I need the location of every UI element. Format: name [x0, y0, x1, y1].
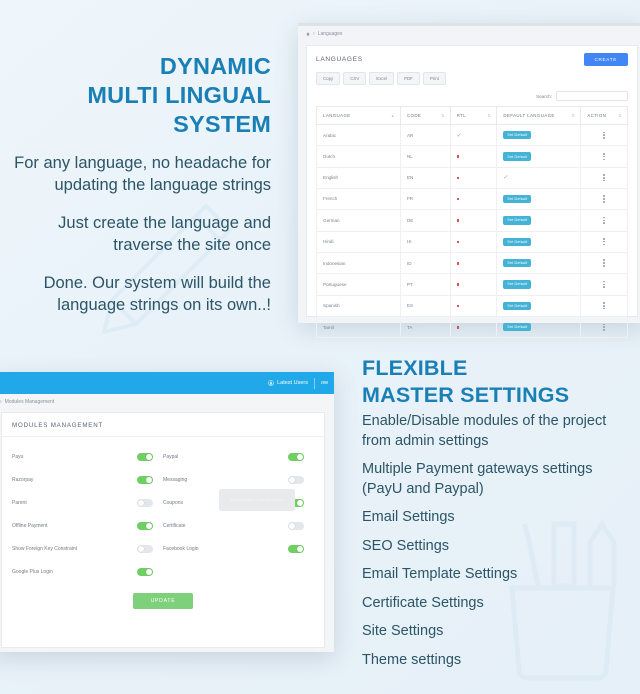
breadcrumb: › Languages	[298, 26, 640, 42]
module-toggle[interactable]	[137, 522, 153, 530]
cell-default-language: Set Default	[497, 146, 581, 167]
cell-default-language: Set Default	[497, 317, 581, 338]
set-default-badge[interactable]: Set Default	[503, 216, 531, 224]
promo-top-body: For any language, no headache for updati…	[0, 152, 271, 316]
cell-language[interactable]: English	[317, 167, 401, 188]
languages-panel: LANGUAGES CREATE Copy CSV Excel PDF Prin…	[306, 45, 638, 317]
export-pdf-button[interactable]: PDF	[397, 72, 420, 85]
module-cell: Certificate	[163, 522, 314, 530]
update-button[interactable]: UPDATE	[133, 593, 194, 609]
cell-language[interactable]: Dutch	[317, 146, 401, 167]
list-item: Email Template Settings	[362, 565, 634, 585]
module-toggle[interactable]	[137, 499, 153, 507]
cell-action[interactable]	[581, 125, 628, 146]
column-header-code[interactable]: CODE⇅	[400, 107, 450, 125]
breadcrumb-separator: ›	[0, 399, 2, 405]
kebab-menu-icon[interactable]	[587, 132, 621, 139]
cell-default-language: Set Default	[497, 231, 581, 252]
cell-rtl	[450, 167, 497, 188]
module-cell: Payu	[12, 453, 163, 461]
sort-icon: ⇅	[618, 114, 622, 118]
module-label: Payu	[12, 454, 137, 460]
cell-rtl	[450, 231, 497, 252]
cell-code: DE	[400, 210, 450, 231]
table-row: GermanDESet Default	[317, 210, 628, 231]
cell-rtl	[450, 146, 497, 167]
search-label: Search:	[536, 94, 552, 99]
kebab-menu-icon[interactable]	[587, 195, 621, 202]
modules-screenshot-card: Latest Users ow › Modules Management MOD…	[0, 372, 334, 652]
cell-action[interactable]	[581, 210, 628, 231]
cell-action[interactable]	[581, 317, 628, 338]
module-label: Certificate	[163, 523, 288, 529]
cell-default-language: Set Default	[497, 210, 581, 231]
account-label[interactable]: ow	[321, 380, 328, 386]
breadcrumb-separator: ›	[313, 31, 315, 37]
export-csv-button[interactable]: CSV	[343, 72, 366, 85]
promo-top-headline: DYNAMIC MULTI LINGUAL SYSTEM	[8, 52, 271, 139]
export-button-group: Copy CSV Excel PDF Print	[307, 72, 637, 91]
column-header-action[interactable]: ACTION⇅	[581, 107, 628, 125]
table-header-row: LANGUAGE▲ CODE⇅ RTL⇅ DEFAULT LANGUAGE⇅ A…	[317, 107, 628, 125]
page-title: MODULES MANAGEMENT	[2, 413, 324, 437]
search-input[interactable]	[556, 91, 628, 101]
module-toggle[interactable]	[288, 476, 304, 484]
cell-default-language: Set Default	[497, 295, 581, 316]
promo-right-headline: FLEXIBLE MASTER SETTINGS	[362, 355, 637, 409]
cell-rtl	[450, 317, 497, 338]
set-default-badge[interactable]: Set Default	[503, 152, 531, 160]
module-label: Google Plus Login	[12, 569, 137, 575]
cross-icon	[457, 198, 460, 201]
modules-grid: PayuPaypalRazorpayMessagingParentCoupons…	[2, 437, 324, 583]
module-toggle[interactable]	[137, 476, 153, 484]
module-toggle[interactable]	[137, 453, 153, 461]
cell-code: EN	[400, 167, 450, 188]
list-item: Email Settings	[362, 508, 634, 528]
cell-language[interactable]: French	[317, 188, 401, 209]
set-default-badge[interactable]: Set Default	[503, 131, 531, 139]
search-row: Search:	[307, 91, 637, 106]
headline-line-2: MULTI LINGUAL	[8, 81, 271, 110]
module-row: Offline PaymentCertificate	[12, 514, 314, 537]
set-default-badge[interactable]: Set Default	[503, 259, 531, 267]
cell-action[interactable]	[581, 295, 628, 316]
cell-default-language: ✓	[497, 167, 581, 188]
kebab-menu-icon[interactable]	[587, 302, 621, 309]
headline-line-2: MASTER SETTINGS	[362, 382, 637, 409]
cross-icon	[457, 283, 460, 286]
module-cell: Paypal	[163, 453, 314, 461]
cross-icon	[457, 155, 460, 158]
set-default-badge[interactable]: Set Default	[503, 195, 531, 203]
sort-icon: ⇅	[441, 114, 445, 118]
page-title: LANGUAGES	[316, 56, 363, 63]
cell-language[interactable]: Indonesian	[317, 252, 401, 273]
cell-language[interactable]: Hindi	[317, 231, 401, 252]
table-row: FrenchFRSet Default	[317, 188, 628, 209]
topbar-divider	[314, 378, 315, 389]
table-row: IndonesianIDSet Default	[317, 252, 628, 273]
kebab-menu-icon[interactable]	[587, 281, 621, 288]
set-default-badge[interactable]: Set Default	[503, 323, 531, 331]
module-cell: Show Foreign Key Constraint	[12, 545, 163, 553]
panel-header: LANGUAGES CREATE	[307, 46, 637, 72]
check-icon: ✓	[503, 175, 508, 181]
list-item: Certificate Settings	[362, 594, 634, 614]
list-item: Theme settings	[362, 651, 634, 671]
cell-code: HI	[400, 231, 450, 252]
cell-action[interactable]	[581, 167, 628, 188]
promo-top-paragraph: Just create the language and traverse th…	[0, 212, 271, 256]
export-excel-button[interactable]: Excel	[369, 72, 394, 85]
module-cell: Facebook Login	[163, 545, 314, 553]
cell-action[interactable]	[581, 231, 628, 252]
cross-icon	[457, 305, 460, 308]
column-header-language[interactable]: LANGUAGE▲	[317, 107, 401, 125]
set-default-badge[interactable]: Set Default	[503, 302, 531, 310]
cross-icon	[457, 262, 460, 265]
cell-action[interactable]	[581, 146, 628, 167]
sort-icon: ⇅	[488, 114, 492, 118]
module-label: Show Foreign Key Constraint	[12, 546, 137, 552]
languages-table-body: ArabicAR✓Set DefaultDutchNLSet DefaultEn…	[317, 125, 628, 338]
cell-default-language: Set Default	[497, 274, 581, 295]
cross-icon	[457, 326, 460, 329]
cell-rtl	[450, 188, 497, 209]
module-toggle[interactable]	[288, 453, 304, 461]
module-label: Facebook Login	[163, 546, 288, 552]
cell-language[interactable]: Portuguese	[317, 274, 401, 295]
module-row: ParentCouponsEnable/Disable Certificate …	[12, 491, 314, 514]
create-button[interactable]: CREATE	[584, 53, 629, 66]
module-cell: Messaging	[163, 476, 314, 484]
latest-users-button[interactable]: Latest Users	[268, 380, 308, 386]
cell-code: NL	[400, 146, 450, 167]
set-default-badge[interactable]: Set Default	[503, 280, 531, 288]
sort-icon: ▲	[391, 114, 395, 118]
kebab-menu-icon[interactable]	[587, 217, 621, 224]
kebab-menu-icon[interactable]	[587, 238, 621, 245]
headline-line-1: FLEXIBLE	[362, 355, 637, 382]
list-item: Multiple Payment gateways settings (PayU…	[362, 460, 634, 499]
cell-code: PT	[400, 274, 450, 295]
breadcrumb: › Modules Management	[0, 394, 334, 409]
breadcrumb-label: Languages	[318, 31, 343, 37]
module-label: Parent	[12, 500, 137, 506]
cell-code: AR	[400, 125, 450, 146]
export-copy-button[interactable]: Copy	[316, 72, 340, 85]
cell-code: ES	[400, 295, 450, 316]
module-row: PayuPaypal	[12, 445, 314, 468]
module-label: Paypal	[163, 454, 288, 460]
headline-line-3: SYSTEM	[8, 110, 271, 139]
module-cell: Razorpay	[12, 476, 163, 484]
module-row: RazorpayMessaging	[12, 468, 314, 491]
breadcrumb-label: Modules Management	[5, 399, 54, 405]
kebab-menu-icon[interactable]	[587, 153, 621, 160]
column-header-default-language[interactable]: DEFAULT LANGUAGE⇅	[497, 107, 581, 125]
module-label: Razorpay	[12, 477, 137, 483]
cell-language[interactable]: Tamil	[317, 317, 401, 338]
cell-code: ID	[400, 252, 450, 273]
cell-rtl	[450, 295, 497, 316]
cross-icon	[457, 241, 460, 244]
cell-rtl: ✓	[450, 125, 497, 146]
cell-code: TA	[400, 317, 450, 338]
languages-table: LANGUAGE▲ CODE⇅ RTL⇅ DEFAULT LANGUAGE⇅ A…	[316, 106, 628, 338]
cell-default-language: Set Default	[497, 188, 581, 209]
export-print-button[interactable]: Print	[423, 72, 446, 85]
cell-rtl	[450, 210, 497, 231]
module-toggle[interactable]	[288, 522, 304, 530]
kebab-menu-icon[interactable]	[587, 324, 621, 331]
master-settings-list: Enable/Disable modules of the project fr…	[362, 412, 634, 679]
table-row: SpanishESSet Default	[317, 295, 628, 316]
module-tooltip: Enable/Disable Certificate Module	[219, 489, 295, 511]
languages-screenshot-card: › Languages LANGUAGES CREATE Copy CSV Ex…	[298, 23, 640, 323]
table-row: HindiHISet Default	[317, 231, 628, 252]
kebab-menu-icon[interactable]	[587, 259, 621, 266]
module-toggle[interactable]	[137, 545, 153, 553]
module-label: Messaging	[163, 477, 288, 483]
app-topbar: Latest Users ow	[0, 372, 334, 394]
set-default-badge[interactable]: Set Default	[503, 238, 531, 246]
cell-rtl	[450, 252, 497, 273]
module-toggle[interactable]	[137, 568, 153, 576]
cell-default-language: Set Default	[497, 125, 581, 146]
module-cell: Google Plus Login	[12, 568, 163, 576]
cell-action[interactable]	[581, 252, 628, 273]
table-row: DutchNLSet Default	[317, 146, 628, 167]
list-item: Enable/Disable modules of the project fr…	[362, 412, 634, 451]
latest-users-label: Latest Users	[277, 380, 308, 386]
list-item: SEO Settings	[362, 537, 634, 557]
module-label: Offline Payment	[12, 523, 137, 529]
cell-language[interactable]: Arabic	[317, 125, 401, 146]
list-item: Site Settings	[362, 622, 634, 642]
headline-line-1: DYNAMIC	[8, 52, 271, 81]
home-icon	[306, 32, 310, 36]
module-row: Google Plus Login	[12, 560, 314, 583]
cell-code: FR	[400, 188, 450, 209]
cell-default-language: Set Default	[497, 252, 581, 273]
users-icon	[268, 380, 274, 386]
table-row: TamilTASet Default	[317, 317, 628, 338]
modules-panel: MODULES MANAGEMENT PayuPaypalRazorpayMes…	[1, 412, 325, 648]
table-row: PortuguesePTSet Default	[317, 274, 628, 295]
table-row: EnglishEN✓	[317, 167, 628, 188]
cross-icon	[457, 177, 460, 180]
promo-top-paragraph: For any language, no headache for updati…	[0, 152, 271, 196]
check-icon: ✓	[457, 133, 462, 139]
module-row: Show Foreign Key ConstraintFacebook Logi…	[12, 537, 314, 560]
cell-language[interactable]: German	[317, 210, 401, 231]
module-cell: Offline Payment	[12, 522, 163, 530]
kebab-menu-icon[interactable]	[587, 174, 621, 181]
cell-action[interactable]	[581, 188, 628, 209]
cell-language[interactable]: Spanish	[317, 295, 401, 316]
promo-top-paragraph: Done. Our system will build the language…	[0, 272, 271, 316]
column-header-rtl[interactable]: RTL⇅	[450, 107, 497, 125]
cell-action[interactable]	[581, 274, 628, 295]
cross-icon	[457, 219, 460, 222]
module-cell: Parent	[12, 499, 163, 507]
sort-icon: ⇅	[572, 114, 576, 118]
table-row: ArabicAR✓Set Default	[317, 125, 628, 146]
module-toggle[interactable]	[288, 545, 304, 553]
cell-rtl	[450, 274, 497, 295]
